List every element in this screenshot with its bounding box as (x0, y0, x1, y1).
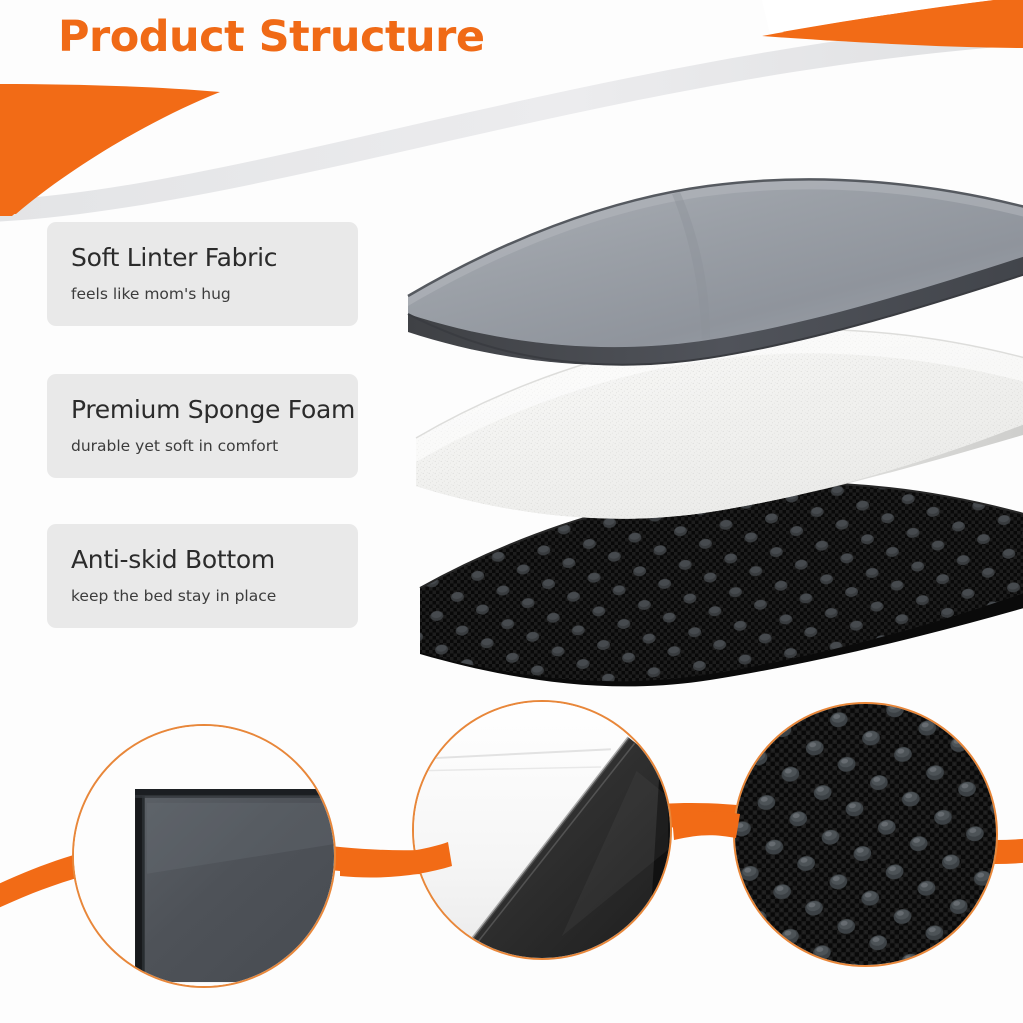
feature-card-soft-linter-fabric[interactable]: Soft Linter Fabric feels like mom's hug (47, 222, 358, 326)
page-title: Product Structure (58, 12, 485, 62)
feature-card-anti-skid-bottom[interactable]: Anti-skid Bottom keep the bed stay in pl… (47, 524, 358, 628)
top-fabric-layer (408, 179, 1023, 365)
feature-title: Anti-skid Bottom (71, 545, 275, 574)
feature-title: Soft Linter Fabric (71, 243, 277, 272)
feature-subtitle: feels like mom's hug (71, 285, 231, 303)
fabric-layers-closeup-image (414, 702, 670, 958)
feature-title: Premium Sponge Foam (71, 395, 355, 424)
feature-subtitle: durable yet soft in comfort (71, 437, 278, 455)
detail-shot-fabric-layers-closeup[interactable] (412, 700, 672, 960)
detail-shot-antiskid-dots-closeup[interactable] (733, 702, 998, 967)
orange-corner-wedge (0, 88, 218, 214)
feature-subtitle: keep the bed stay in place (71, 587, 276, 605)
feature-card-premium-sponge-foam[interactable]: Premium Sponge Foam durable yet soft in … (47, 374, 358, 478)
orange-corner-wedge-right (782, 0, 1023, 46)
infographic-canvas: Product Structure Soft Linter Fabric fee… (0, 0, 1023, 1023)
corner-edge-closeup-image (74, 726, 334, 986)
exploded-layer-stack (380, 118, 1023, 718)
detail-shot-corner-edge-closeup[interactable] (72, 724, 336, 988)
antiskid-dots-closeup-image (735, 704, 996, 965)
